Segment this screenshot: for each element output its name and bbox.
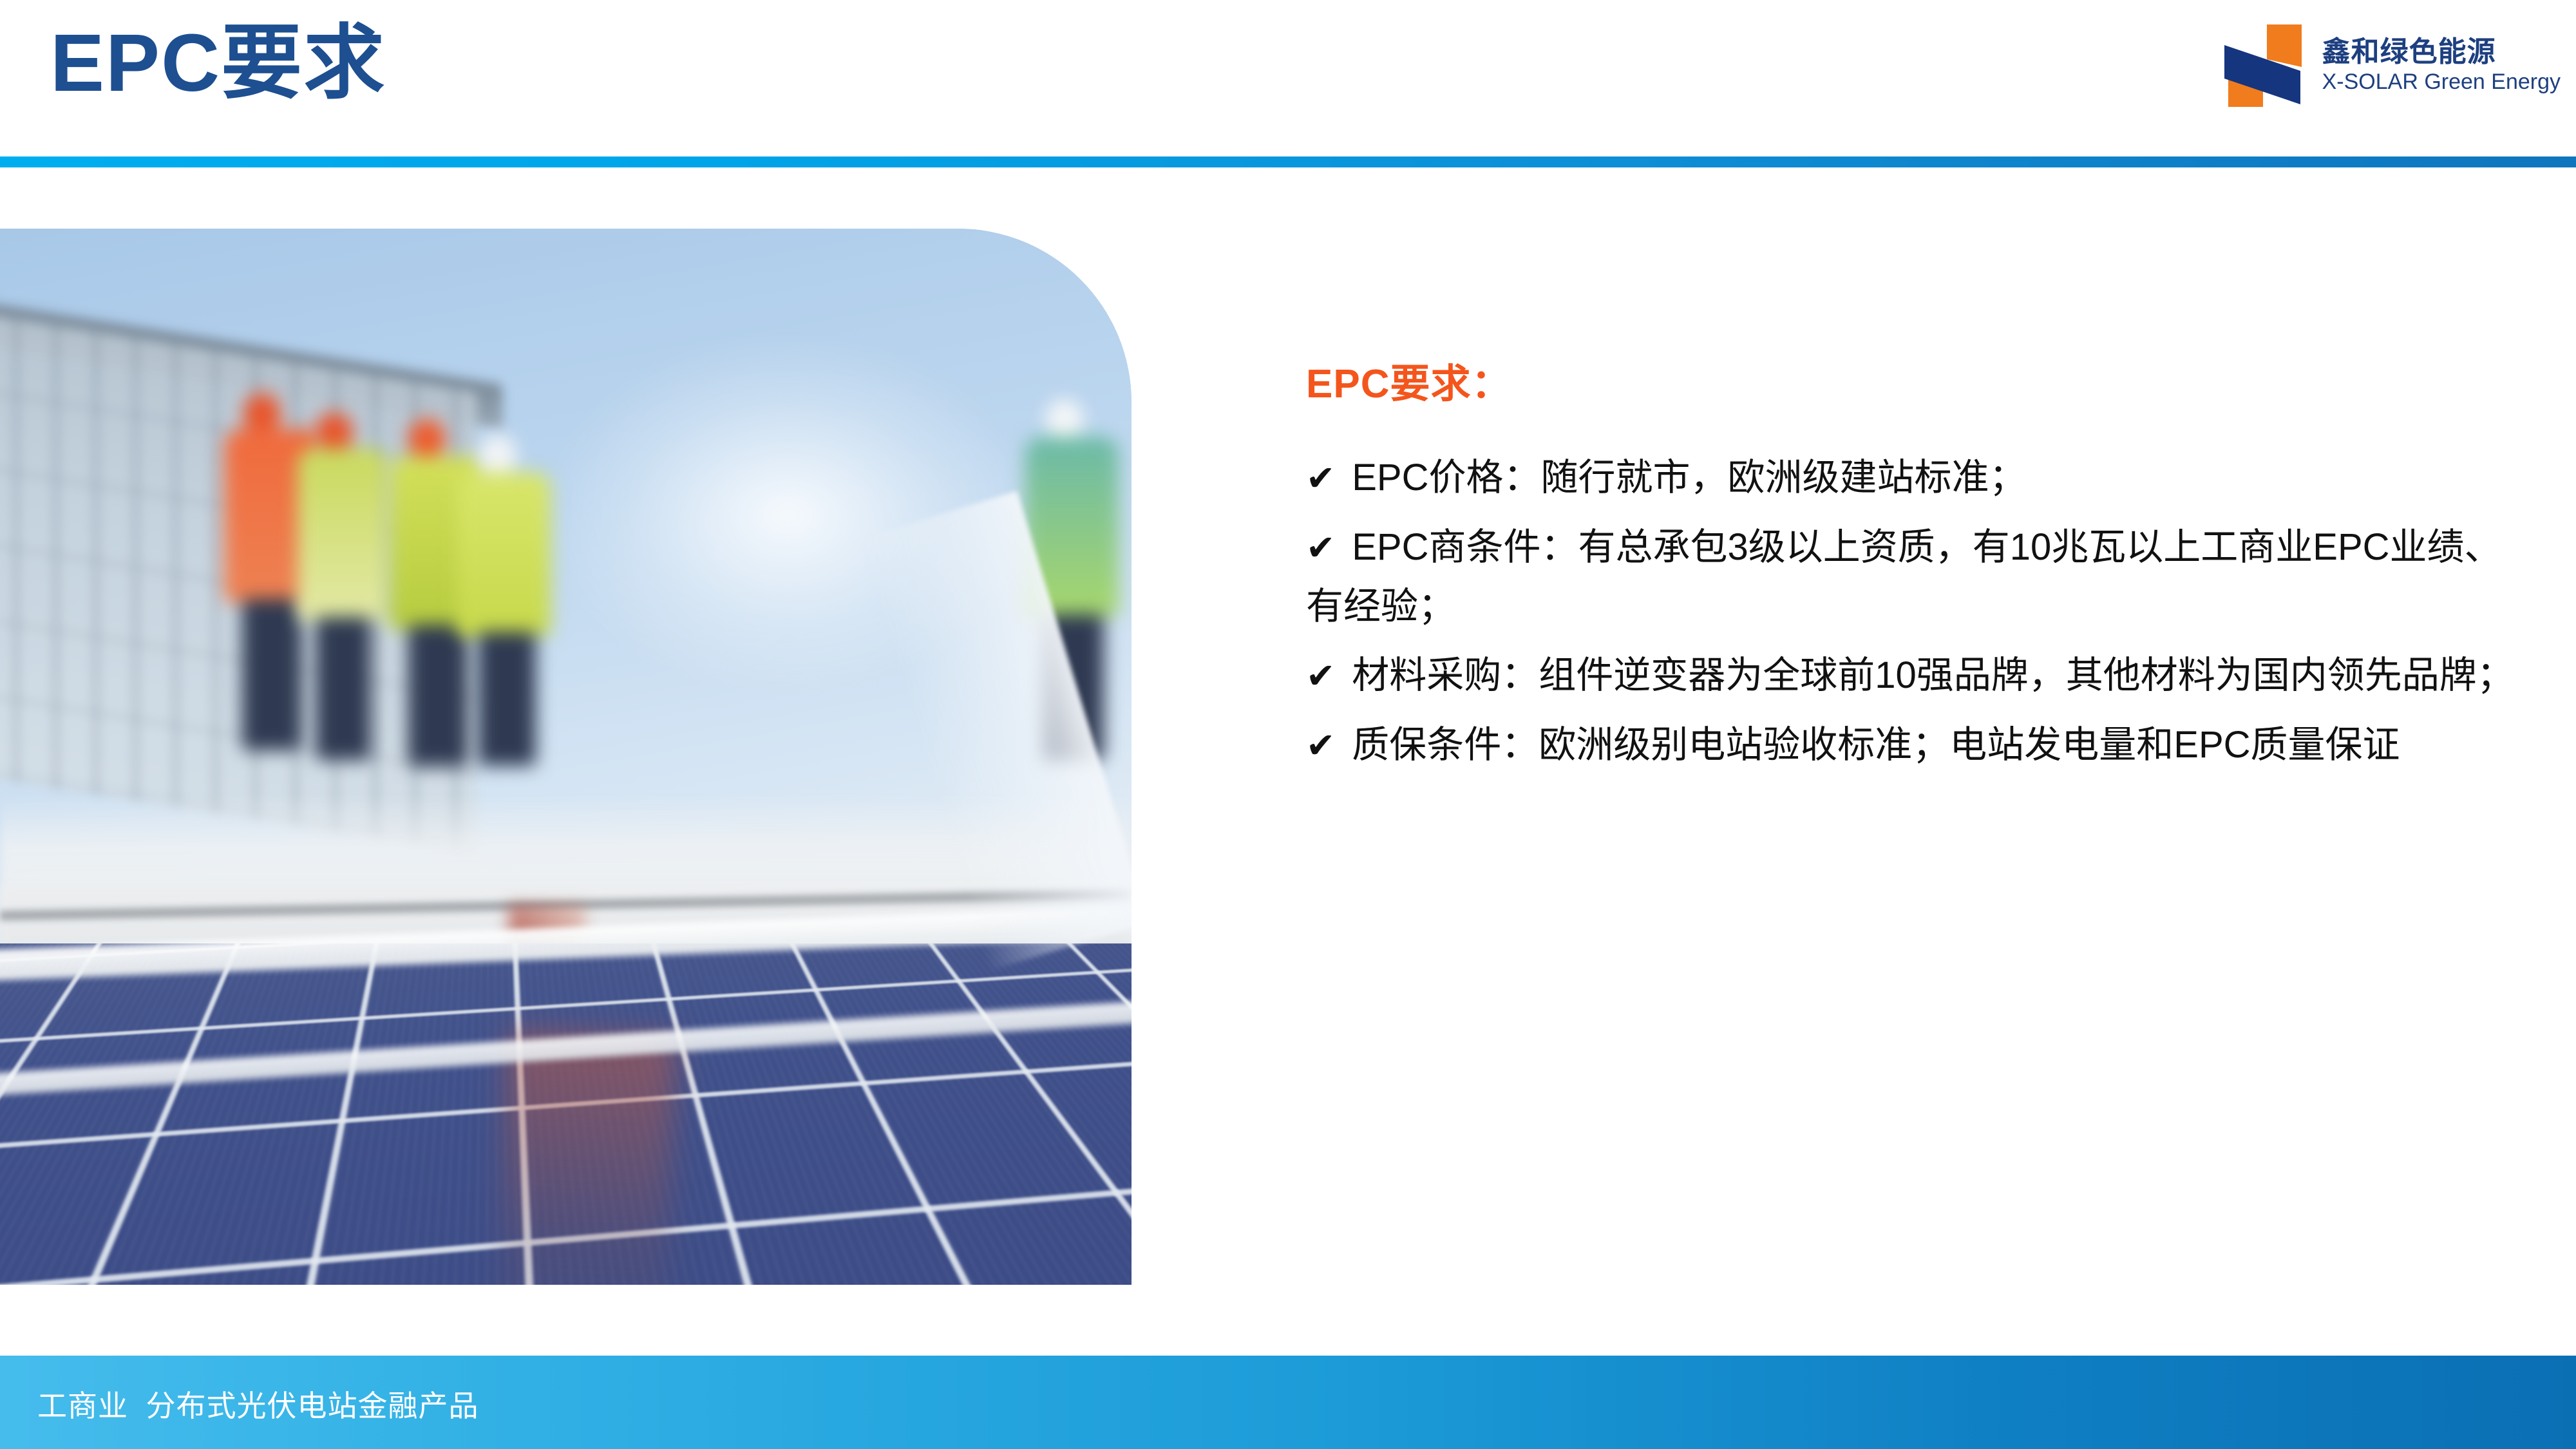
epc-requirements-list: ✔EPC价格：随行就市，欧洲级建站标准； ✔EPC商条件：有总承包3级以上资质，… — [1306, 448, 2530, 774]
list-item-label: EPC价格：随行就市，欧洲级建站标准； — [1352, 457, 2026, 498]
list-item-label: EPC商条件：有总承包3级以上资质，有10兆瓦以上工商业EPC业绩、有经验； — [1306, 526, 2502, 627]
photo-worker-helmet — [243, 393, 281, 433]
list-item-label: 材料采购：组件逆变器为全球前10强品牌，其他材料为国内领先品牌； — [1352, 654, 2514, 696]
solar-panel-rooftop-workers-photo — [0, 229, 1132, 1285]
photo-worker-legs — [478, 632, 536, 766]
list-item: ✔质保条件：欧洲级别电站验收标准；电站发电量和EPC质量保证 — [1306, 715, 2530, 775]
photo-worker-vest — [457, 472, 551, 636]
logo-english-name: X-SOLAR Green Energy — [2322, 71, 2561, 93]
check-icon: ✔ — [1306, 521, 1335, 576]
logo-chinese-name: 鑫和绿色能源 — [2322, 38, 2561, 67]
photo-worker-4 — [451, 435, 573, 770]
photo-worker-helmet — [479, 435, 516, 475]
photo-worker-helmet — [408, 419, 446, 459]
photo-worker-helmet — [1046, 399, 1083, 439]
check-icon: ✔ — [1306, 649, 1335, 704]
page-title: EPC要求 — [50, 5, 386, 121]
company-logo: 鑫和绿色能源 X-SOLAR Green Energy — [2217, 23, 2561, 108]
check-icon: ✔ — [1306, 451, 1335, 506]
photo-worker-vest — [298, 448, 388, 621]
slide-header: EPC要求 鑫和绿色能源 X-SOLAR Green Energy — [0, 0, 2576, 155]
list-item: ✔EPC价格：随行就市，欧洲级建站标准； — [1306, 448, 2530, 507]
x-solar-logo-mark-icon — [2217, 23, 2308, 108]
slide-footer: 工商业 分布式光伏电站金融产品 — [0, 1356, 2576, 1449]
footer-label: 工商业 分布式光伏电站金融产品 — [37, 1383, 479, 1425]
list-item-label: 质保条件：欧洲级别电站验收标准；电站发电量和EPC质量保证 — [1352, 724, 2400, 766]
photo-worker-helmet — [316, 412, 353, 452]
header-divider-rule — [0, 156, 2576, 167]
content-panel: EPC要求： ✔EPC价格：随行就市，欧洲级建站标准； ✔EPC商条件：有总承包… — [1306, 361, 2530, 785]
list-item: ✔EPC商条件：有总承包3级以上资质，有10兆瓦以上工商业EPC业绩、有经验； — [1306, 518, 2530, 636]
check-icon: ✔ — [1306, 719, 1335, 773]
photo-worker-legs — [316, 617, 371, 760]
content-heading: EPC要求： — [1306, 361, 2530, 408]
list-item: ✔材料采购：组件逆变器为全球前10强品牌，其他材料为国内领先品牌； — [1306, 646, 2530, 705]
logo-wordmark: 鑫和绿色能源 X-SOLAR Green Energy — [2322, 38, 2561, 93]
photo-panel-reflection — [496, 1031, 676, 1285]
